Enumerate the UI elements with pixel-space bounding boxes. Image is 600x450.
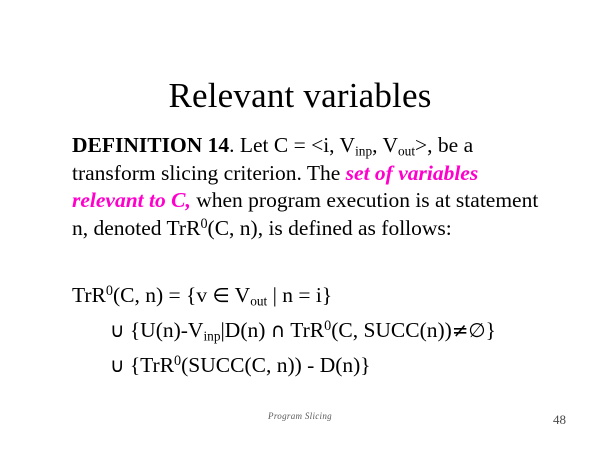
math-token-text-4: (SUCC(C, n)) - D(n)} bbox=[181, 353, 370, 377]
page-number: 48 bbox=[553, 412, 566, 428]
math-line-3: ∪ {TrR0(SUCC(C, n)) - D(n)} bbox=[72, 348, 572, 383]
math-token-text-2: {U(n)-V bbox=[124, 318, 203, 342]
subscript-inp-1: inp bbox=[355, 144, 372, 159]
math-token-op-4: ∈ bbox=[212, 284, 229, 307]
definition-text-1: . Let C = <i, V bbox=[229, 133, 355, 157]
math-token-sup-2: 0 bbox=[106, 283, 113, 299]
definition-label: DEFINITION 14 bbox=[72, 133, 229, 157]
math-token-text-11: } bbox=[486, 318, 496, 342]
math-token-text-2: {TrR bbox=[124, 353, 174, 377]
page-title: Relevant variables bbox=[0, 75, 600, 117]
math-token-text-4: |D(n) bbox=[220, 318, 270, 342]
math-line-2: ∪ {U(n)-Vinp|D(n) ∩ TrR0(C, SUCC(n))≠∅} bbox=[72, 313, 572, 348]
math-token-op-10: ∅ bbox=[468, 319, 485, 342]
math-token-op-9: ≠ bbox=[452, 319, 469, 342]
math-equations: TrR0(C, n) = {v ∈ Vout | n = i} ∪ {U(n)-… bbox=[72, 278, 572, 383]
footer-note: Program Slicing bbox=[0, 411, 600, 421]
math-line-1: TrR0(C, n) = {v ∈ Vout | n = i} bbox=[72, 278, 572, 313]
math-token-text-1: TrR bbox=[72, 283, 106, 307]
math-token-op-1: ∪ bbox=[110, 354, 124, 377]
math-token-text-3: (C, n) = {v bbox=[113, 283, 212, 307]
definition-body: DEFINITION 14. Let C = <i, Vinp, Vout>, … bbox=[72, 132, 548, 242]
superscript-zero-1: 0 bbox=[200, 216, 207, 232]
math-token-text-5: V bbox=[230, 283, 251, 307]
definition-text-2: , V bbox=[372, 133, 398, 157]
definition-text-5: (C, n), is defined as follows: bbox=[208, 216, 452, 240]
math-token-text-6: TrR bbox=[285, 318, 324, 342]
math-token-op-1: ∪ bbox=[110, 319, 124, 342]
presentation-slide: Relevant variables DEFINITION 14. Let C … bbox=[0, 0, 600, 450]
definition-paragraph: DEFINITION 14. Let C = <i, Vinp, Vout>, … bbox=[72, 132, 548, 242]
math-token-text-8: (C, SUCC(n)) bbox=[331, 318, 452, 342]
math-token-text-7: | n = i} bbox=[267, 283, 332, 307]
math-token-sub-3: inp bbox=[203, 329, 220, 344]
math-token-sub-6: out bbox=[250, 294, 267, 309]
math-token-op-5: ∩ bbox=[271, 319, 285, 342]
subscript-out-1: out bbox=[398, 144, 415, 159]
